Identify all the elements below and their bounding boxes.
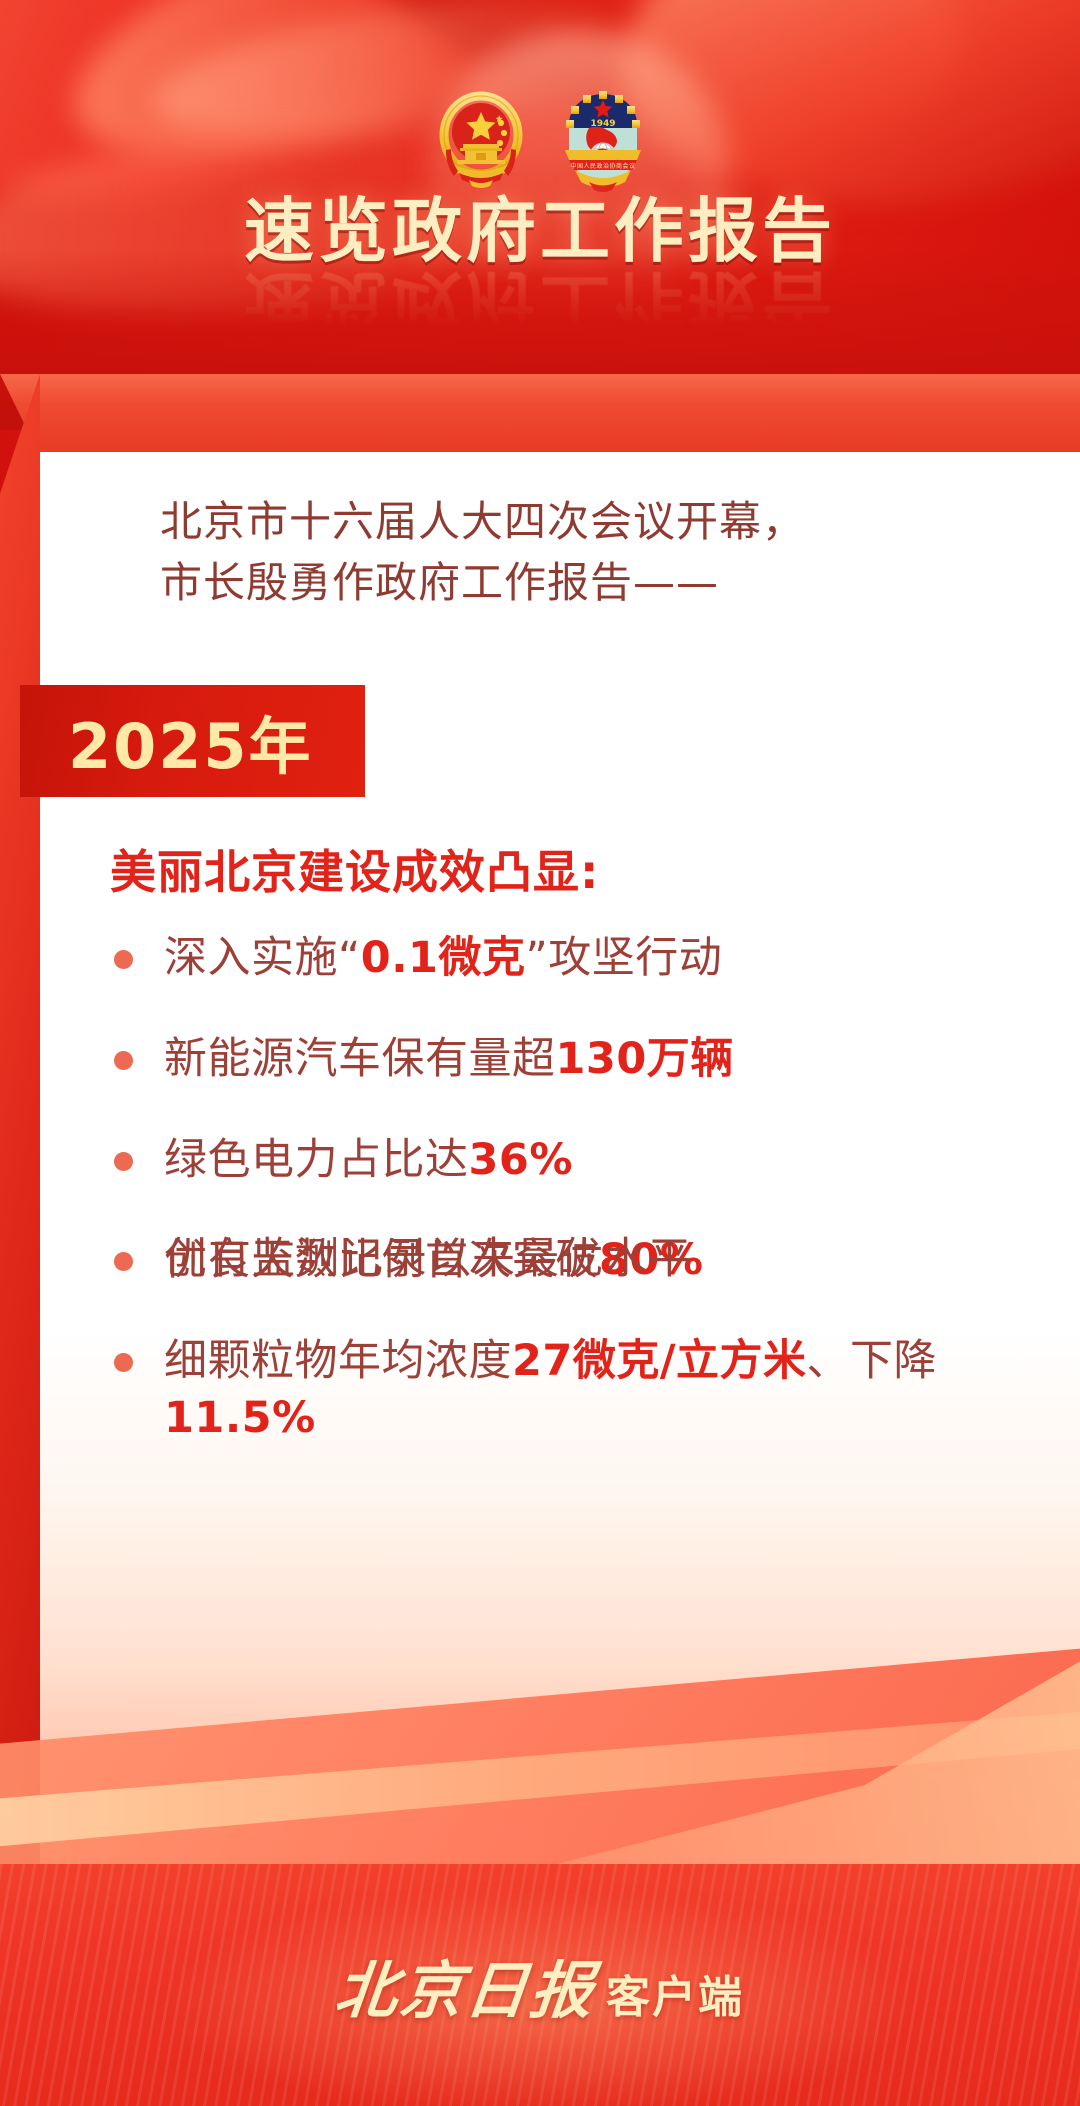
content-card: 北京市十六届人大四次会议开幕， 市长殷勇作政府工作报告—— 2025年 美丽北京… [40,452,1080,1864]
closing-note: 创有监测记录以来最优水平 [164,1224,692,1286]
bullet-text: 新能源汽车保有量超 [164,1034,556,1084]
year-badge: 2025年 [20,685,365,797]
intro-line-2: 市长殷勇作政府工作报告—— [160,553,1020,614]
bullet-highlight: 27微克/立方米 [512,1336,807,1386]
bullet-item: 新能源汽车保有量超130万辆 [106,1031,1036,1088]
intro-text: 北京市十六届人大四次会议开幕， 市长殷勇作政府工作报告—— [160,492,1020,614]
bullet-dot-icon [114,1252,133,1271]
bullet-dot-icon [114,950,133,969]
footer-bar: 北京日报 客户端 [0,1864,1080,2106]
bullet-dot-icon [114,1051,133,1070]
svg-text:中国人民政治协商会议: 中国人民政治协商会议 [570,162,635,170]
bullet-highlight: 36% [469,1135,573,1185]
bullet-text: 深入实施 [164,933,338,983]
poster-root: 1949 中国人民政治协商会议 [0,0,1080,2106]
page-title: 速览政府工作报告 [0,196,1080,266]
bullet-text: ” [525,933,548,983]
brand-suffix: 客户端 [606,1961,744,2025]
card-left-bevel [0,374,40,1869]
bullet-highlight: 130万辆 [556,1034,734,1084]
bullet-item: 深入实施“0.1微克”攻坚行动 [106,930,1036,987]
cppcc-emblem-icon: 1949 中国人民政治协商会议 [555,88,651,197]
poster-title-block: 速览政府工作报告 速览政府工作报告 [0,196,1080,338]
bullet-item: 绿色电力占比达36% [106,1132,1036,1189]
page-title-reflection: 速览政府工作报告 [0,268,1080,338]
bullet-text: “ [338,933,361,983]
bullet-dot-icon [114,1152,133,1171]
bullet-highlight: 11.5% [164,1393,316,1443]
intro-line-1: 北京市十六届人大四次会议开幕， [160,492,1020,553]
section-heading: 美丽北京建设成效凸显: [110,836,599,902]
card-top-bevel [0,374,1080,458]
brand-lockup: 北京日报 客户端 [0,1940,1080,2030]
emblem-row: 1949 中国人民政治协商会议 [0,88,1080,197]
bullet-text: 、下降 [807,1336,938,1386]
bullet-list: 深入实施“0.1微克”攻坚行动新能源汽车保有量超130万辆绿色电力占比达36%优… [106,930,1036,1491]
bullet-text: 细颗粒物年均浓度 [164,1336,512,1386]
bullet-dot-icon [114,1353,133,1372]
bullet-text: 攻坚行动 [548,933,722,983]
bullet-text: 绿色电力占比达 [164,1135,469,1185]
brand-name: 北京日报 [331,1940,600,2030]
bullet-item: 细颗粒物年均浓度27微克/立方米、下降11.5% [106,1333,1036,1447]
national-emblem-prc-icon [429,88,533,197]
year-badge-label: 2025年 [68,696,313,786]
bullet-highlight: 0.1微克 [361,933,526,983]
